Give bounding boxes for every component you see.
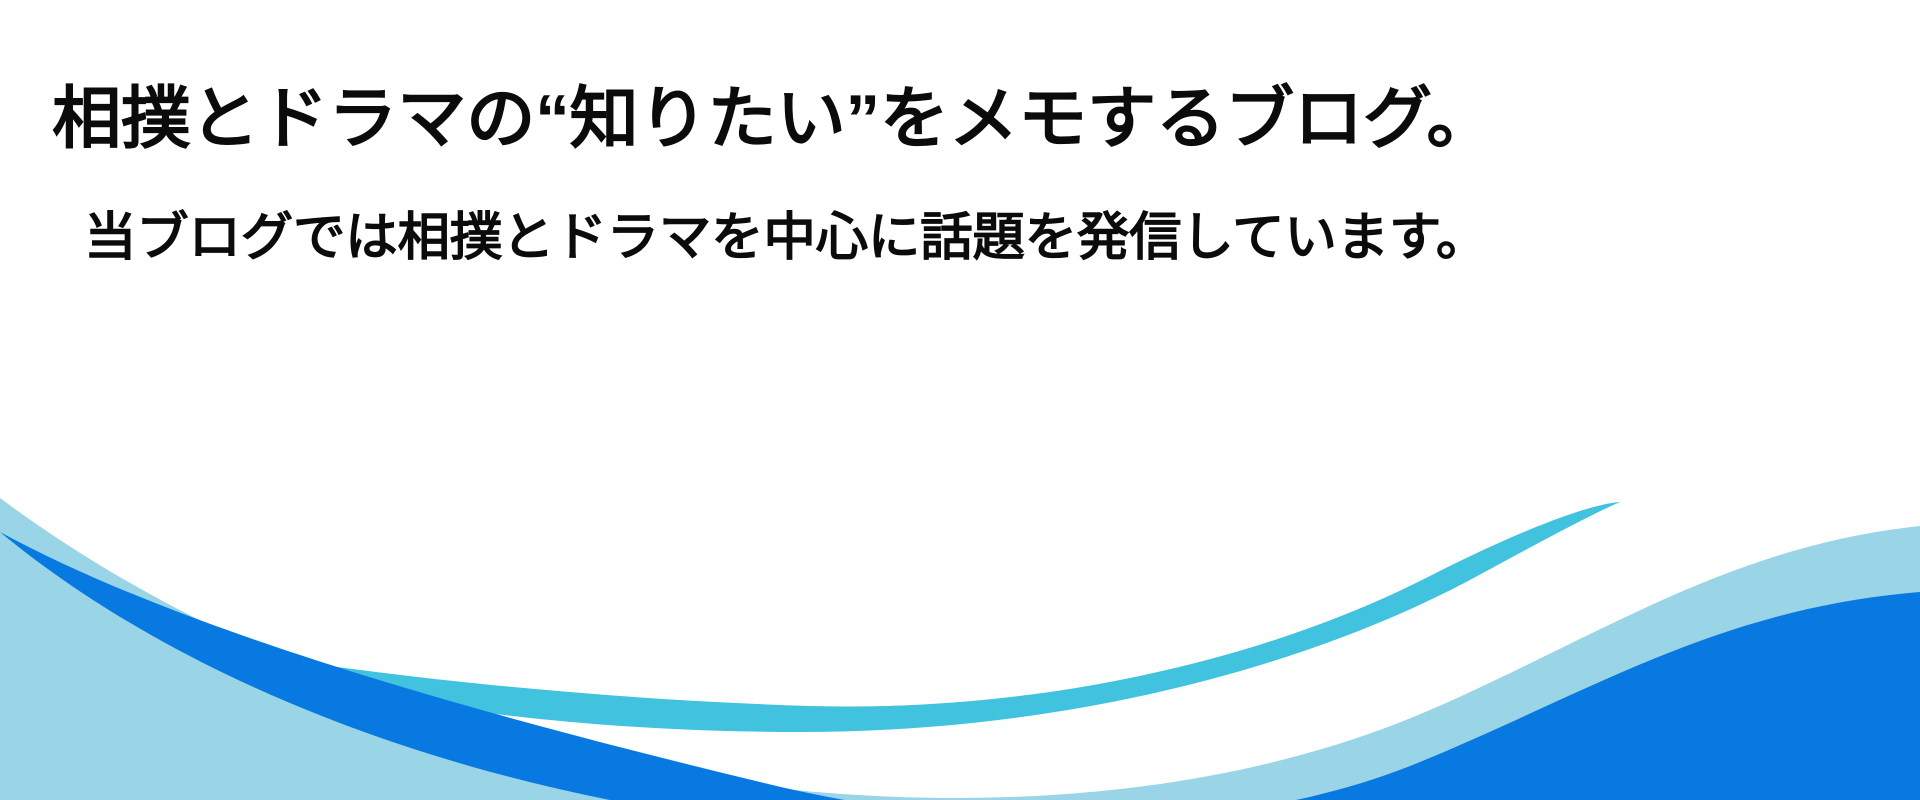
blog-header-banner: 相撲とドラマの“知りたい”をメモするブログ。 当ブログでは相撲とドラマを中心に話… (0, 0, 1920, 800)
wave-decoration-svg (0, 380, 1920, 800)
page-title: 相撲とドラマの“知りたい”をメモするブログ。 (52, 80, 1919, 159)
wave-decoration (0, 380, 1920, 800)
page-tagline: 当ブログでは相撲とドラマを中心に話題を発信しています。 (84, 207, 1902, 269)
